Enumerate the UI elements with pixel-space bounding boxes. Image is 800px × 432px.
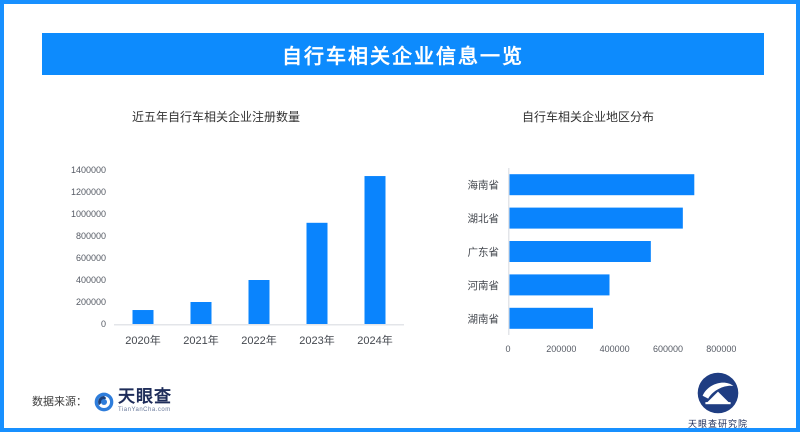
bar bbox=[133, 310, 154, 324]
institute-logo: 天眼查研究院 bbox=[668, 372, 768, 430]
tianyancha-logo: 天眼查 TianYanCha.com bbox=[93, 388, 172, 413]
bar bbox=[510, 308, 593, 329]
x-axis-tick-label: 200000 bbox=[546, 344, 576, 354]
x-axis-tick-label: 400000 bbox=[600, 344, 630, 354]
chart-title-regions: 自行车相关企业地区分布 bbox=[522, 108, 654, 125]
chart-title-registrations: 近五年自行车相关企业注册数量 bbox=[132, 108, 300, 125]
bar bbox=[510, 241, 651, 262]
bar bbox=[510, 208, 683, 229]
page-title: 自行车相关企业信息一览 bbox=[282, 40, 524, 69]
x-axis-tick-label: 2021年 bbox=[183, 333, 218, 346]
bar bbox=[510, 174, 695, 195]
chart-regions: 自行车相关企业地区分布 海南省湖北省广东省河南省湖南省0200000400000… bbox=[444, 96, 784, 356]
title-banner: 自行车相关企业信息一览 bbox=[42, 33, 764, 75]
chart-registrations-canvas: 1400000120000010000008000006000004000002… bbox=[32, 96, 432, 346]
x-axis-line bbox=[114, 324, 404, 326]
source-label: 数据来源： bbox=[32, 393, 87, 409]
bar bbox=[365, 176, 386, 324]
y-axis-tick-label: 广东省 bbox=[468, 246, 500, 259]
chart-registrations: 近五年自行车相关企业注册数量 1400000120000010000008000… bbox=[32, 96, 432, 346]
bar bbox=[191, 302, 212, 324]
y-axis-tick-label: 海南省 bbox=[468, 179, 500, 192]
x-axis-tick-label: 2022年 bbox=[241, 333, 276, 346]
x-axis-tick-label: 2023年 bbox=[299, 333, 334, 346]
bar bbox=[307, 223, 328, 324]
bar bbox=[510, 274, 610, 295]
brand-domain: TianYanCha.com bbox=[118, 407, 172, 413]
y-axis-tick-label: 800000 bbox=[76, 231, 106, 241]
x-axis-tick-label: 2020年 bbox=[125, 333, 160, 346]
y-axis-tick-label: 1400000 bbox=[71, 165, 106, 175]
y-axis-tick-label: 湖南省 bbox=[468, 312, 500, 325]
tianyancha-wordmark: 天眼查 TianYanCha.com bbox=[118, 388, 172, 413]
eye-lens-icon bbox=[93, 391, 115, 413]
x-axis-tick-label: 0 bbox=[505, 344, 510, 354]
y-axis-line bbox=[508, 168, 510, 335]
source-attribution: 数据来源： 天眼查 TianYanCha.com bbox=[32, 388, 172, 413]
x-axis-tick-label: 2024年 bbox=[357, 333, 392, 346]
y-axis-tick-label: 河南省 bbox=[468, 279, 500, 292]
circular-bridge-icon bbox=[697, 372, 739, 414]
y-axis-tick-label: 1000000 bbox=[71, 209, 106, 219]
infographic-page: 自行车相关企业信息一览 近五年自行车相关企业注册数量 1400000120000… bbox=[0, 0, 800, 432]
bar bbox=[249, 280, 270, 324]
x-axis-tick-label: 600000 bbox=[653, 344, 683, 354]
y-axis-tick-label: 湖北省 bbox=[468, 212, 500, 225]
y-axis-tick-label: 600000 bbox=[76, 253, 106, 263]
institute-name: 天眼查研究院 bbox=[688, 417, 748, 430]
y-axis-tick-label: 400000 bbox=[76, 275, 106, 285]
y-axis-tick-label: 200000 bbox=[76, 297, 106, 307]
chart-regions-canvas: 海南省湖北省广东省河南省湖南省0200000400000600000800000 bbox=[444, 96, 784, 356]
brand-name: 天眼查 bbox=[118, 388, 172, 405]
y-axis-tick-label: 0 bbox=[101, 319, 106, 329]
x-axis-tick-label: 800000 bbox=[706, 344, 736, 354]
y-axis-tick-label: 1200000 bbox=[71, 187, 106, 197]
